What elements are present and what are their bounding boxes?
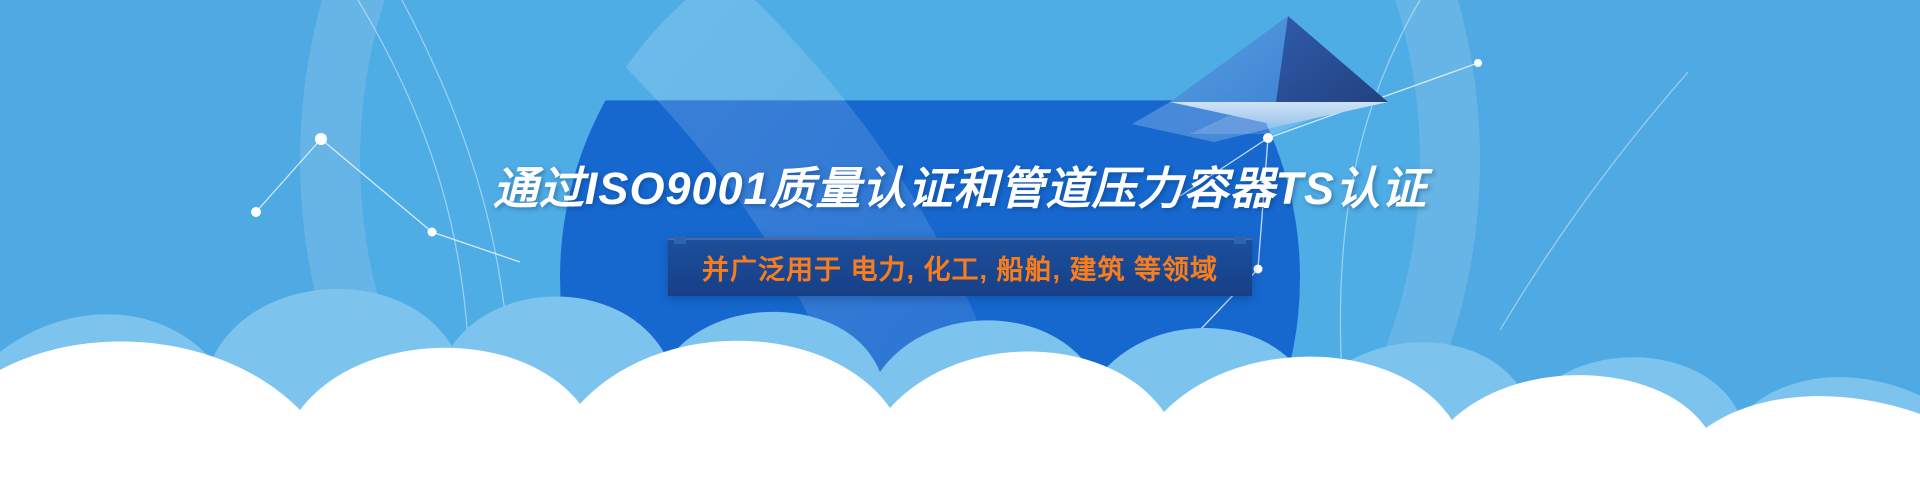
banner-subtitle-container: 并广泛用于 电力, 化工, 船舶, 建筑 等领域 (0, 238, 1920, 296)
banner-headline: 通过ISO9001质量认证和管道压力容器TS认证 (0, 152, 1920, 217)
hero-banner: 通过ISO9001质量认证和管道压力容器TS认证 并广泛用于 电力, 化工, 船… (0, 0, 1920, 480)
subtitle-bar: 并广泛用于 电力, 化工, 船舶, 建筑 等领域 (668, 238, 1252, 296)
pyramid-3d-icon (1132, 16, 1388, 142)
banner-subtitle-text: 并广泛用于 电力, 化工, 船舶, 建筑 等领域 (702, 248, 1218, 287)
